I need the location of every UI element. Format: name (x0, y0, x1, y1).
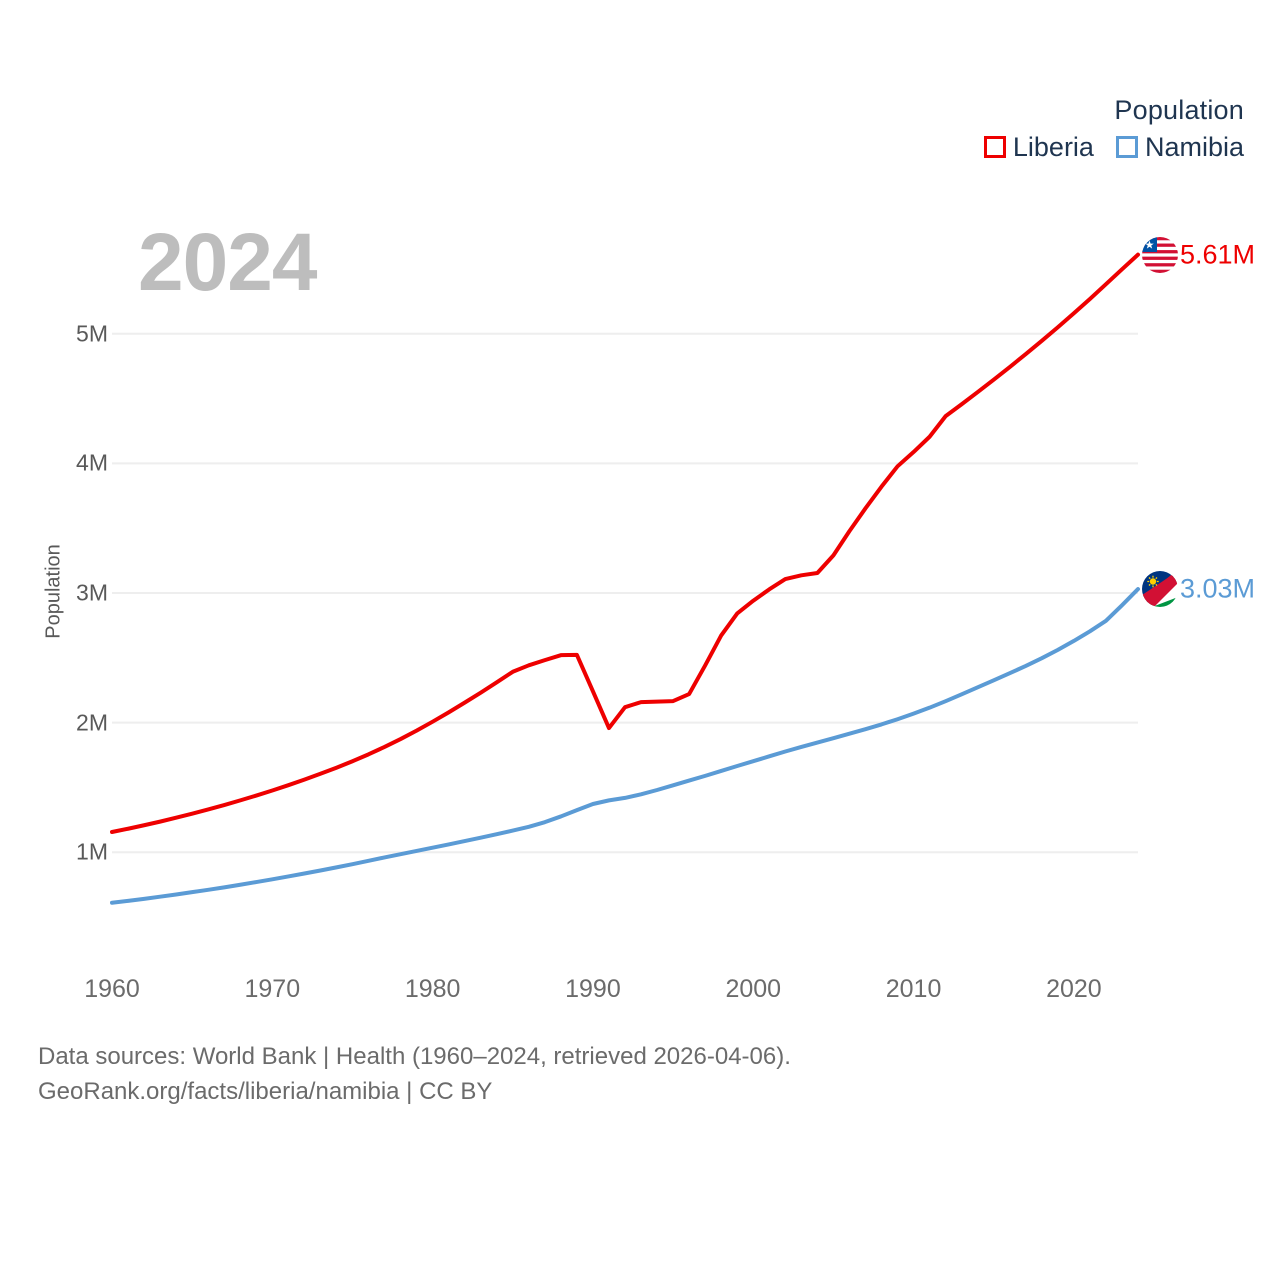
population-line-chart: Population Liberia Namibia 2024 Populati… (0, 0, 1280, 1280)
x-tick-label: 1970 (245, 975, 301, 1004)
namibia-flag-icon (1142, 571, 1178, 607)
x-tick-label: 2010 (886, 975, 942, 1004)
footer-line-1: Data sources: World Bank | Health (1960–… (38, 1040, 791, 1075)
x-tick-label: 2020 (1046, 975, 1102, 1004)
line-namibia (112, 589, 1138, 903)
x-tick-label: 2000 (725, 975, 781, 1004)
y-tick-label: 1M (76, 839, 108, 866)
line-liberia (112, 255, 1138, 832)
y-tick-label: 4M (76, 450, 108, 477)
y-tick-label: 2M (76, 709, 108, 736)
liberia-flag-icon (1142, 237, 1178, 273)
footer-attribution: Data sources: World Bank | Health (1960–… (38, 1040, 791, 1110)
x-tick-label: 1990 (565, 975, 621, 1004)
gridlines (112, 334, 1138, 853)
namibia-end-value: 3.03M (1180, 574, 1255, 605)
liberia-end-value: 5.61M (1180, 239, 1255, 270)
y-tick-label: 5M (76, 320, 108, 347)
footer-line-2: GeoRank.org/facts/liberia/namibia | CC B… (38, 1075, 791, 1110)
y-tick-label: 3M (76, 579, 108, 606)
x-tick-label: 1980 (405, 975, 461, 1004)
x-tick-label: 1960 (84, 975, 140, 1004)
series-lines (112, 255, 1138, 903)
